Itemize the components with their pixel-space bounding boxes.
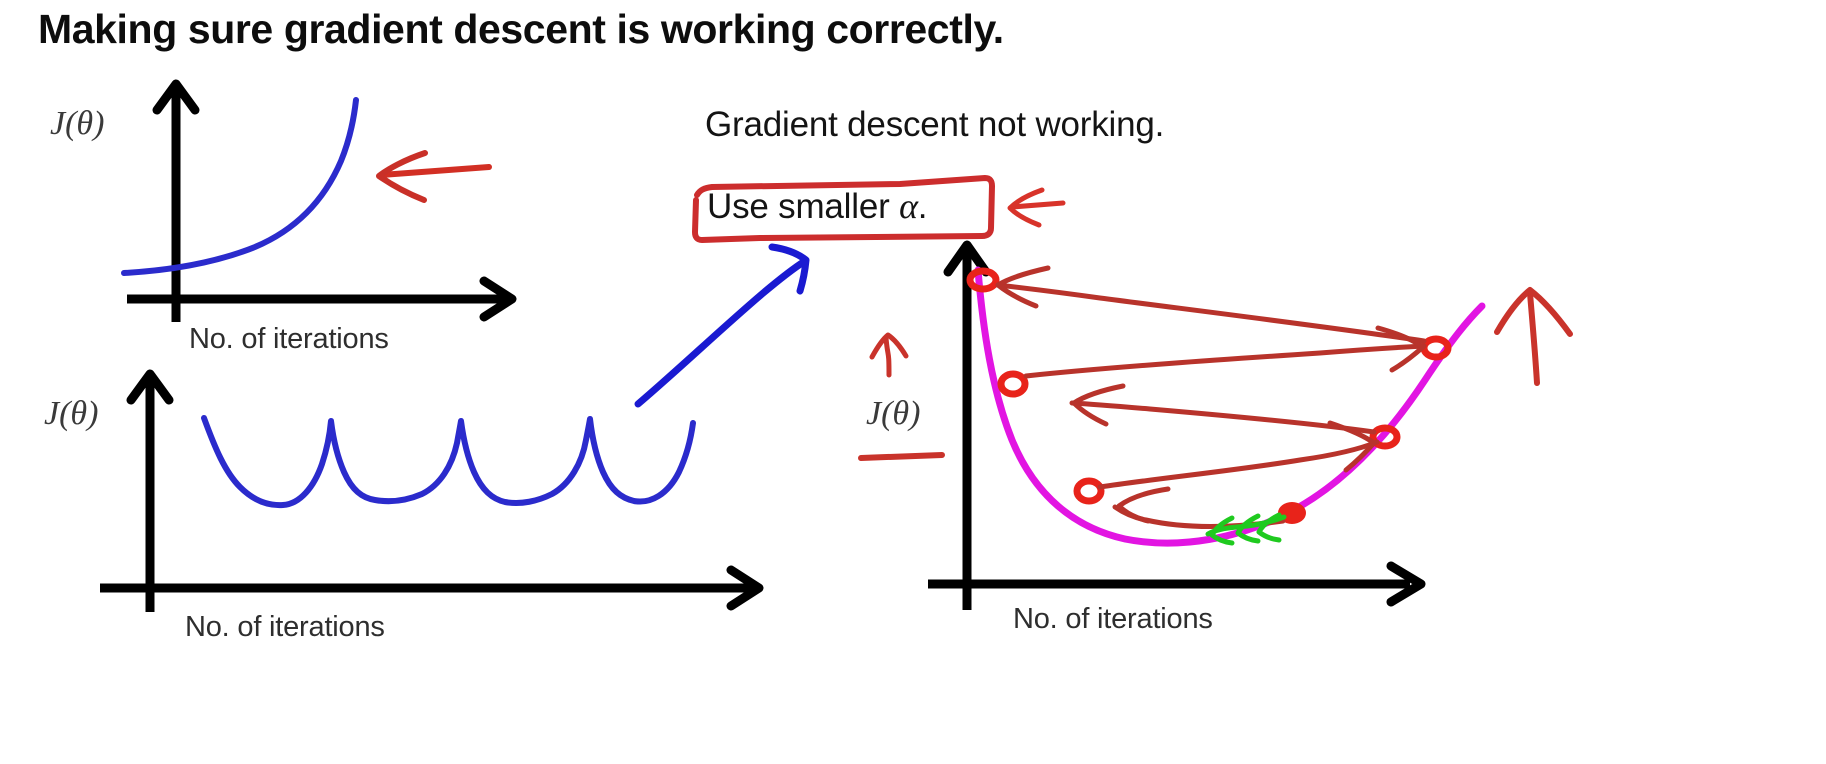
- iterate-point-theta5: [970, 271, 996, 289]
- chart-3-curve-cost-bowl: [978, 270, 1482, 543]
- divergence-arrow-5-shaft: [998, 285, 1424, 341]
- ink-up-arrow-near-ylabel-chart-3: [872, 335, 906, 375]
- divergence-arrow-4-shaft: [1026, 346, 1424, 376]
- chart-1-curve-diverging: [124, 100, 356, 273]
- ink-arrow-to-advice-box: [1010, 190, 1063, 225]
- green-squiggle-head-3: [1259, 515, 1279, 540]
- ink-underline-under-ylabel-chart-3: [861, 455, 942, 458]
- chart-3-divergence-arrows: [998, 268, 1424, 527]
- chart-1-axes: [127, 84, 512, 322]
- iterate-point-theta3: [1001, 374, 1025, 394]
- ink-arrow-to-chart-1-shaft: [381, 167, 489, 175]
- iterate-point-theta1: [1077, 481, 1101, 501]
- ink-arrow-to-advice-box-shaft: [1012, 203, 1063, 207]
- slide-canvas: Making sure gradient descent is working …: [0, 0, 1826, 764]
- ink-advice-box-outline: [695, 178, 992, 240]
- ink-up-arrow-shaft-small: [886, 338, 889, 375]
- ink-up-arrow-right-margin: [1497, 290, 1570, 383]
- divergence-arrow-3-shaft: [1072, 403, 1374, 432]
- chart-2-curve-oscillating: [204, 418, 693, 505]
- ink-arrow-to-chart-1: [379, 153, 489, 200]
- ink-up-arrow-right-shaft: [1530, 293, 1537, 383]
- ink-blue-arrow-shaft: [638, 261, 805, 404]
- drawing-layer: [0, 0, 1826, 764]
- ink-blue-arrow-to-advice-box: [638, 247, 806, 404]
